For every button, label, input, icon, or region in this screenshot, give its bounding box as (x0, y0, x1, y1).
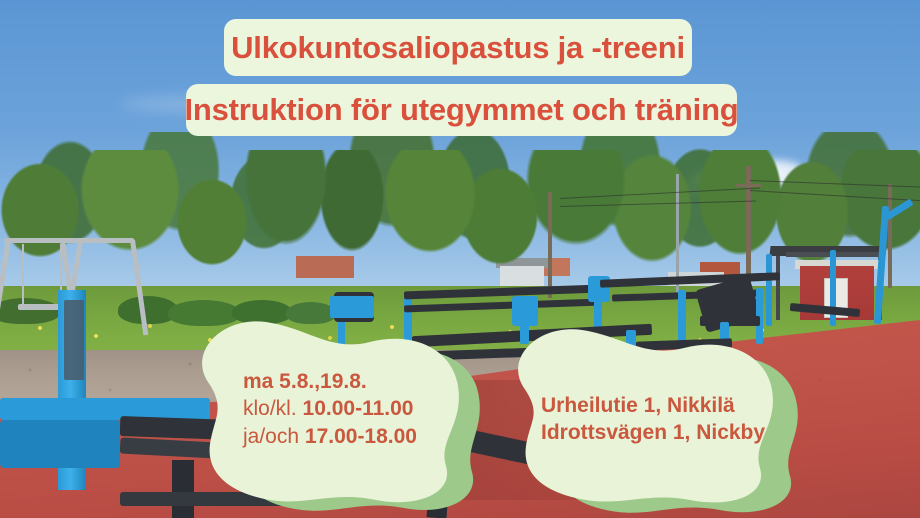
utility-pole (548, 192, 552, 298)
utility-pole (888, 184, 892, 288)
title-banner-swedish: Instruktion för utegymmet och träning (186, 84, 737, 136)
schedule-time-label-1: klo/kl. (243, 397, 297, 420)
address-text: Urheilutie 1, Nikkilä Idrottsvägen 1, Ni… (541, 392, 765, 447)
address-line-finnish: Urheilutie 1, Nikkilä (541, 392, 765, 419)
schedule-text: ma 5.8.,19.8. klo/kl. 10.00-11.00 ja/och… (243, 368, 417, 450)
poster-image: Ulkokuntosaliopastus ja -treeni Instrukt… (0, 0, 920, 518)
title-text-finnish: Ulkokuntosaliopastus ja -treeni (231, 30, 685, 66)
address-line-swedish: Idrottsvägen 1, Nickby (541, 419, 765, 446)
schedule-time-value-1: 10.00-11.00 (303, 397, 414, 420)
schedule-time-label-2: ja/och (243, 425, 299, 448)
title-text-swedish: Instruktion för utegymmet och träning (184, 92, 738, 128)
title-banner-finnish: Ulkokuntosaliopastus ja -treeni (224, 19, 692, 76)
schedule-dates: ma 5.8.,19.8. (243, 368, 417, 395)
schedule-time-value-2: 17.00-18.00 (305, 425, 417, 448)
